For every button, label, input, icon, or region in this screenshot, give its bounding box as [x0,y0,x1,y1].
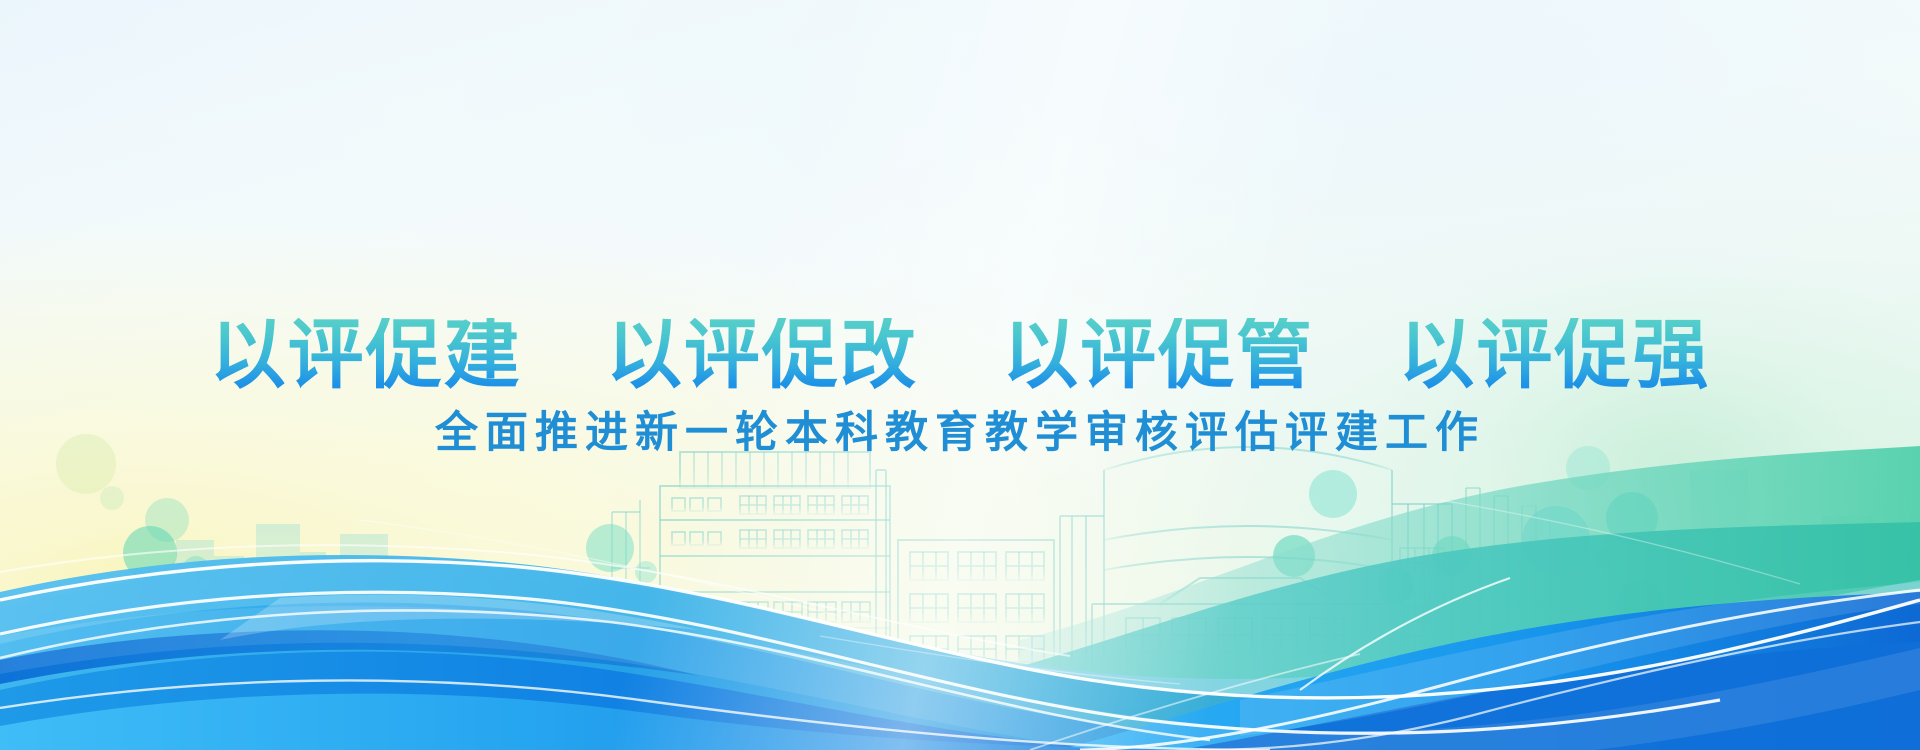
banner-root: 以评促建 以评促改 以评促管 以评促强 全面推进新一轮本科教育教学审核评估评建工… [0,0,1920,750]
headline-segment-1: 以评促建 [208,313,524,398]
headline-segment-2: 以评促改 [604,313,920,398]
banner-text-block: 以评促建 以评促改 以评促管 以评促强 全面推进新一轮本科教育教学审核评估评建工… [0,318,1920,457]
headline-segment-3: 以评促管 [1000,313,1316,398]
headline-segment-4: 以评促强 [1396,313,1712,398]
banner-headline: 以评促建 以评促改 以评促管 以评促强 [0,318,1920,394]
banner-subtitle: 全面推进新一轮本科教育教学审核评估评建工作 [0,410,1920,457]
